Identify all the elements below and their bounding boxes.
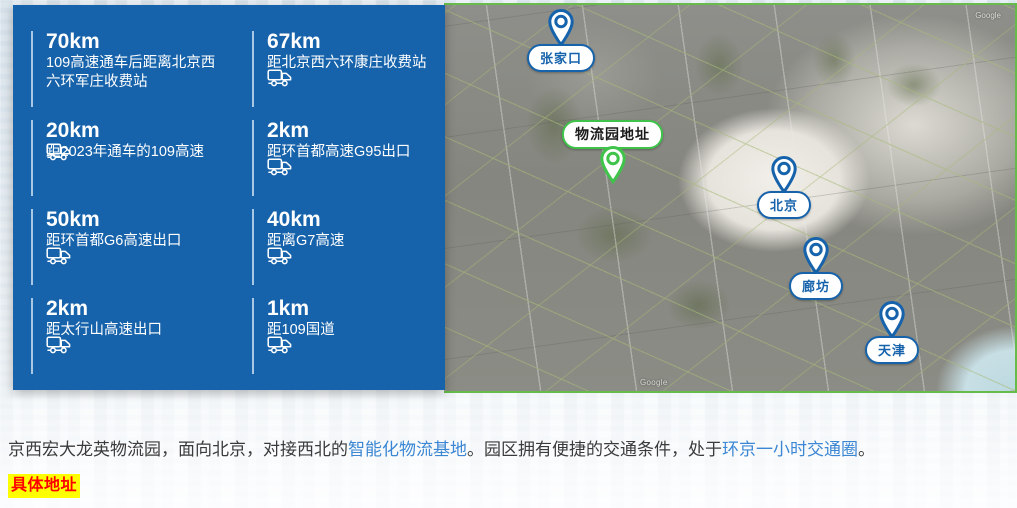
distance-info-item: 40km距离G7高速 [252,207,437,296]
distance-description: 距2023年通车的109高速 [46,143,226,162]
distance-info-item: 2km距环首都高速G95出口 [252,118,437,207]
distance-info-grid: 70km109高速通车后距离北京西六环军庄收费站67km距北京西六环康庄收费站2… [13,29,445,385]
map-attribution: Google [640,378,668,387]
map-marker-label: 廊坊 [789,272,843,300]
address-tag[interactable]: 具体地址 [8,474,80,498]
distance-info-item: 67km距北京西六环康庄收费站 [252,29,437,118]
caption-text: 。 [858,440,875,459]
map-marker-label: 北京 [757,191,811,219]
distance-info-item: 2km距太行山高速出口 [31,296,252,385]
map-marker-label: 张家口 [527,44,595,72]
map-marker[interactable]: 天津 [865,300,919,364]
distance-value: 20km [46,118,252,143]
distance-value: 50km [46,207,252,232]
distance-info-item: 70km109高速通车后距离北京西六环军庄收费站 [31,29,252,118]
distance-value: 2km [267,118,437,143]
page-root: Google Google 张家口物流园地址北京廊坊天津 70km109高速通车… [0,0,1017,508]
distance-value: 70km [46,29,252,54]
map-pin-icon [877,300,907,340]
truck-icon [267,247,437,271]
distance-value: 40km [267,207,437,232]
caption-highlight: 环京一小时交通圈 [722,440,858,459]
truck-icon [267,336,437,360]
map-attribution-secondary: Google [975,11,1001,20]
distance-info-item: 1km距109国道 [252,296,437,385]
map-marker-label: 天津 [865,336,919,364]
map-marker[interactable]: 廊坊 [789,236,843,300]
map-pin-icon [769,155,799,195]
distance-info-item: 50km距环首都G6高速出口 [31,207,252,296]
map-pin-icon [598,145,628,185]
caption-text: 。园区拥有便捷的交通条件，处于 [467,440,722,459]
distance-info-panel: 70km109高速通车后距离北京西六环军庄收费站67km距北京西六环康庄收费站2… [13,5,445,390]
map-pin-icon [546,8,576,48]
map-marker[interactable]: 北京 [757,155,811,219]
distance-value: 1km [267,296,437,321]
distance-info-item: 20km距2023年通车的109高速 [31,118,252,207]
caption-highlight: 智能化物流基地 [348,440,467,459]
distance-value: 67km [267,29,437,54]
distance-value: 2km [46,296,252,321]
map-marker[interactable]: 张家口 [527,8,595,72]
map-marker[interactable]: 物流园地址 [562,120,663,185]
distance-description: 109高速通车后距离北京西六环军庄收费站 [46,54,226,92]
page-caption: 京西宏大龙英物流园，面向北京，对接西北的智能化物流基地。园区拥有便捷的交通条件，… [8,438,1008,462]
caption-text: 京西宏大龙英物流园，面向北京，对接西北的 [8,440,348,459]
map-pin-icon [801,236,831,276]
